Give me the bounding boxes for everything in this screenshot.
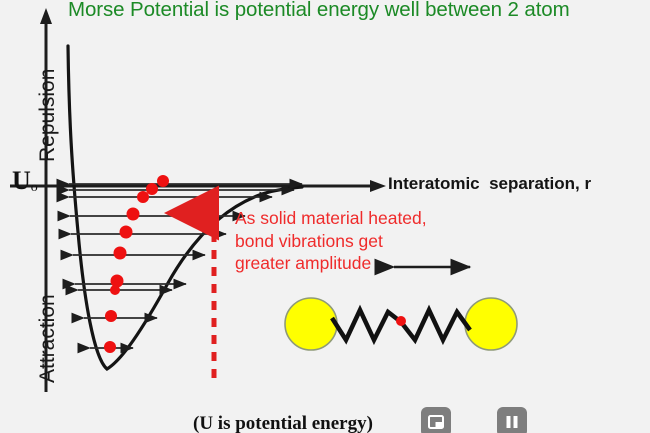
y-axis-arrowhead — [40, 8, 52, 24]
pip-icon — [421, 407, 451, 433]
level-dot — [110, 285, 120, 295]
u-zero-subscript: o — [31, 180, 38, 195]
y-axis-repulsion-label: Repulsion — [36, 69, 60, 162]
x-axis-arrowhead — [370, 180, 386, 192]
annotation-line-3: greater amplitude — [235, 252, 427, 275]
atom-right — [465, 298, 517, 350]
bond-center-dot — [396, 316, 406, 326]
level-dot — [137, 191, 149, 203]
footer-note: (U is potential energy) — [193, 413, 373, 433]
level-dot — [105, 310, 117, 322]
level-midpoint-dots — [104, 175, 169, 353]
atom-left — [285, 298, 337, 350]
molecule-illustration — [285, 298, 517, 350]
u-zero-symbol: U — [12, 166, 31, 195]
level-dot — [114, 247, 127, 260]
level-dot — [157, 175, 169, 187]
x-axis-label: Interatomic separation, r — [388, 174, 591, 194]
annotation-line-2: bond vibrations get — [235, 230, 427, 253]
u-zero-label: Uo — [12, 166, 38, 196]
level-dot — [104, 341, 116, 353]
heating-annotation: As solid material heated, bond vibration… — [235, 207, 427, 275]
level-dot — [146, 183, 158, 195]
pause-button[interactable] — [497, 407, 527, 433]
level-dot — [120, 226, 133, 239]
y-axis-attraction-label: Attraction — [36, 294, 60, 383]
page-title: Morse Potential is potential energy well… — [68, 0, 650, 22]
annotation-line-1: As solid material heated, — [235, 207, 427, 230]
picture-in-picture-button[interactable] — [421, 407, 451, 433]
slide-canvas: Morse Potential is potential energy well… — [0, 0, 650, 433]
pause-icon — [497, 407, 527, 433]
level-dot — [127, 208, 140, 221]
